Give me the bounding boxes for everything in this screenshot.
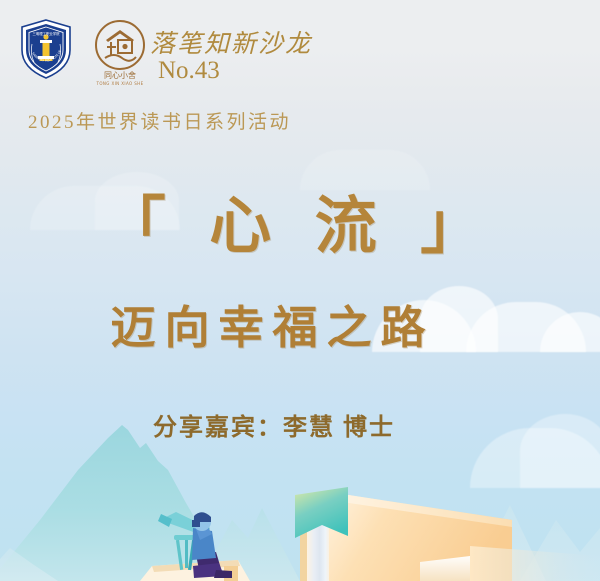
- speaker-line: 分享嘉宾：李慧 博士: [0, 407, 600, 442]
- mountain-mid: [200, 508, 300, 581]
- salon-title: 落笔知新沙龙: [150, 24, 312, 60]
- svg-text:TONG XIN XIAO SHE: TONG XIN XIAO SHE: [95, 81, 143, 86]
- person-head: [193, 513, 211, 531]
- small-book-block: [224, 566, 238, 581]
- person-hair: [194, 512, 211, 522]
- university-shield-icon: 三明理工职业学院 SANMING INSTITUTE OF TECHNOLOGY: [18, 18, 74, 80]
- poster-header: 三明理工职业学院 SANMING INSTITUTE OF TECHNOLOGY…: [0, 0, 600, 140]
- person-figure: [192, 512, 232, 578]
- poster-canvas: 三明理工职业学院 SANMING INSTITUTE OF TECHNOLOGY…: [0, 0, 600, 581]
- main-title: 「 心 流 」: [0, 196, 600, 258]
- club-emblem-icon: 同心小舍 TONG XIN XIAO SHE: [88, 16, 152, 88]
- telescope-tube: [158, 512, 210, 534]
- cloud-shape: [300, 150, 430, 190]
- svg-text:三明理工职业学院: 三明理工职业学院: [32, 31, 60, 36]
- person-legs: [196, 552, 222, 574]
- book-right-fade: [470, 546, 600, 581]
- mountain-far-right: [430, 505, 546, 581]
- event-series-label: 2025年世界读书日系列活动: [28, 107, 291, 134]
- salon-number: No.43: [158, 57, 220, 85]
- person-torso: [192, 528, 216, 560]
- sub-title: 迈向幸福之路: [0, 306, 600, 351]
- svg-text:同心小舍: 同心小舍: [104, 70, 136, 80]
- small-book-edge: [152, 560, 240, 572]
- mountain-far-right-2: [520, 520, 600, 581]
- book-spine-back: [300, 513, 318, 581]
- person-shoe: [214, 570, 232, 578]
- book-inner-page: [420, 556, 470, 581]
- small-book-base: [140, 560, 250, 581]
- mountain-main: [0, 425, 232, 581]
- book-pages: [307, 492, 330, 581]
- bookmark-ribbon: [295, 487, 348, 538]
- person-arm: [196, 524, 212, 540]
- book-cover: [329, 492, 512, 581]
- book-top-edge: [329, 492, 512, 527]
- telescope-tripod: [174, 535, 198, 570]
- mountain-left-low: [0, 548, 58, 581]
